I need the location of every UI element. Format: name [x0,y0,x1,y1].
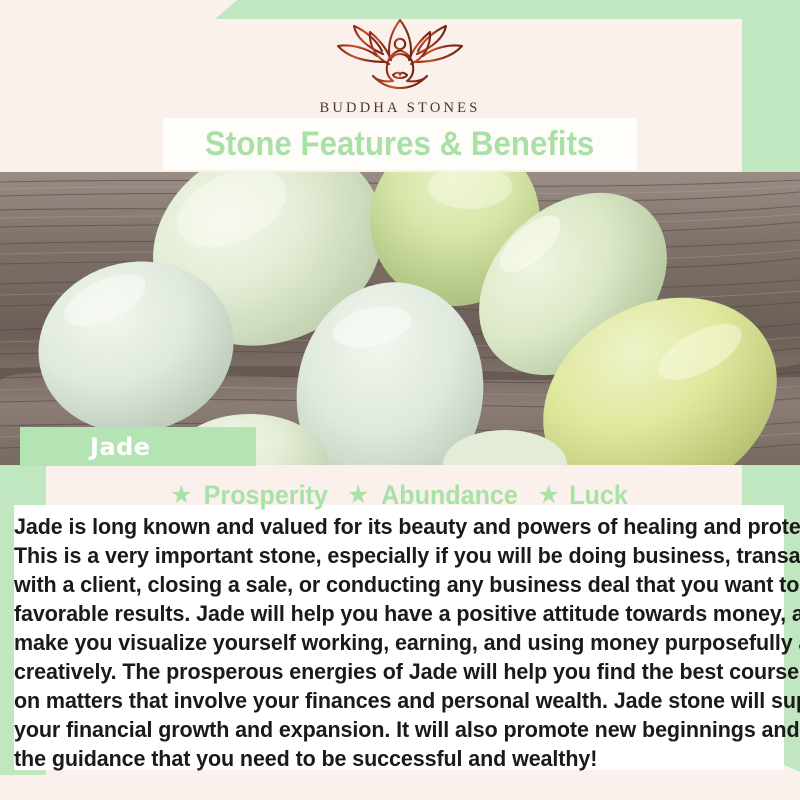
brand-name: BUDDHA STONES [320,100,481,117]
description-line: Jade is long known and valued for its be… [14,512,757,541]
info-card: BUDDHA STONES Stone Features & Benefits [0,0,800,800]
stone-name-text: Jade [90,433,151,461]
title-banner: Stone Features & Benefits [163,118,637,170]
star-icon: ★ [537,483,559,508]
description-line: This is a very important stone, especial… [14,541,757,570]
star-icon: ★ [170,483,192,508]
keyword-row: ★ Prosperity ★ Abundance ★ Luck [0,478,800,512]
keyword-abundance: ★ Abundance [347,480,523,511]
page-title: Stone Features & Benefits [205,125,594,164]
description-line: on matters that involve your finances an… [14,686,757,715]
description-line: creatively. The prosperous energies of J… [14,657,757,686]
decorative-green-top-bar [215,0,800,19]
keyword-label: Abundance [382,480,519,511]
description-line: favorable results. Jade will help you ha… [14,599,757,628]
star-icon: ★ [347,483,369,508]
description-line: your financial growth and expansion. It … [14,715,757,744]
keyword-label: Prosperity [204,480,328,511]
keyword-luck: ★ Luck [537,480,629,511]
lotus-meditation-icon [325,18,475,97]
brand-logo-block: BUDDHA STONES [0,18,800,118]
stone-name-label: Jade [20,427,256,466]
stone-photo [0,172,800,465]
description-line: the guidance that you need to be success… [14,744,757,773]
description-line: make you visualize yourself working, ear… [14,628,757,657]
keyword-label: Luck [569,480,628,511]
description-line: with a client, closing a sale, or conduc… [14,570,757,599]
keyword-prosperity: ★ Prosperity [170,480,333,511]
description-paragraph: Jade is long known and valued for its be… [14,512,792,773]
